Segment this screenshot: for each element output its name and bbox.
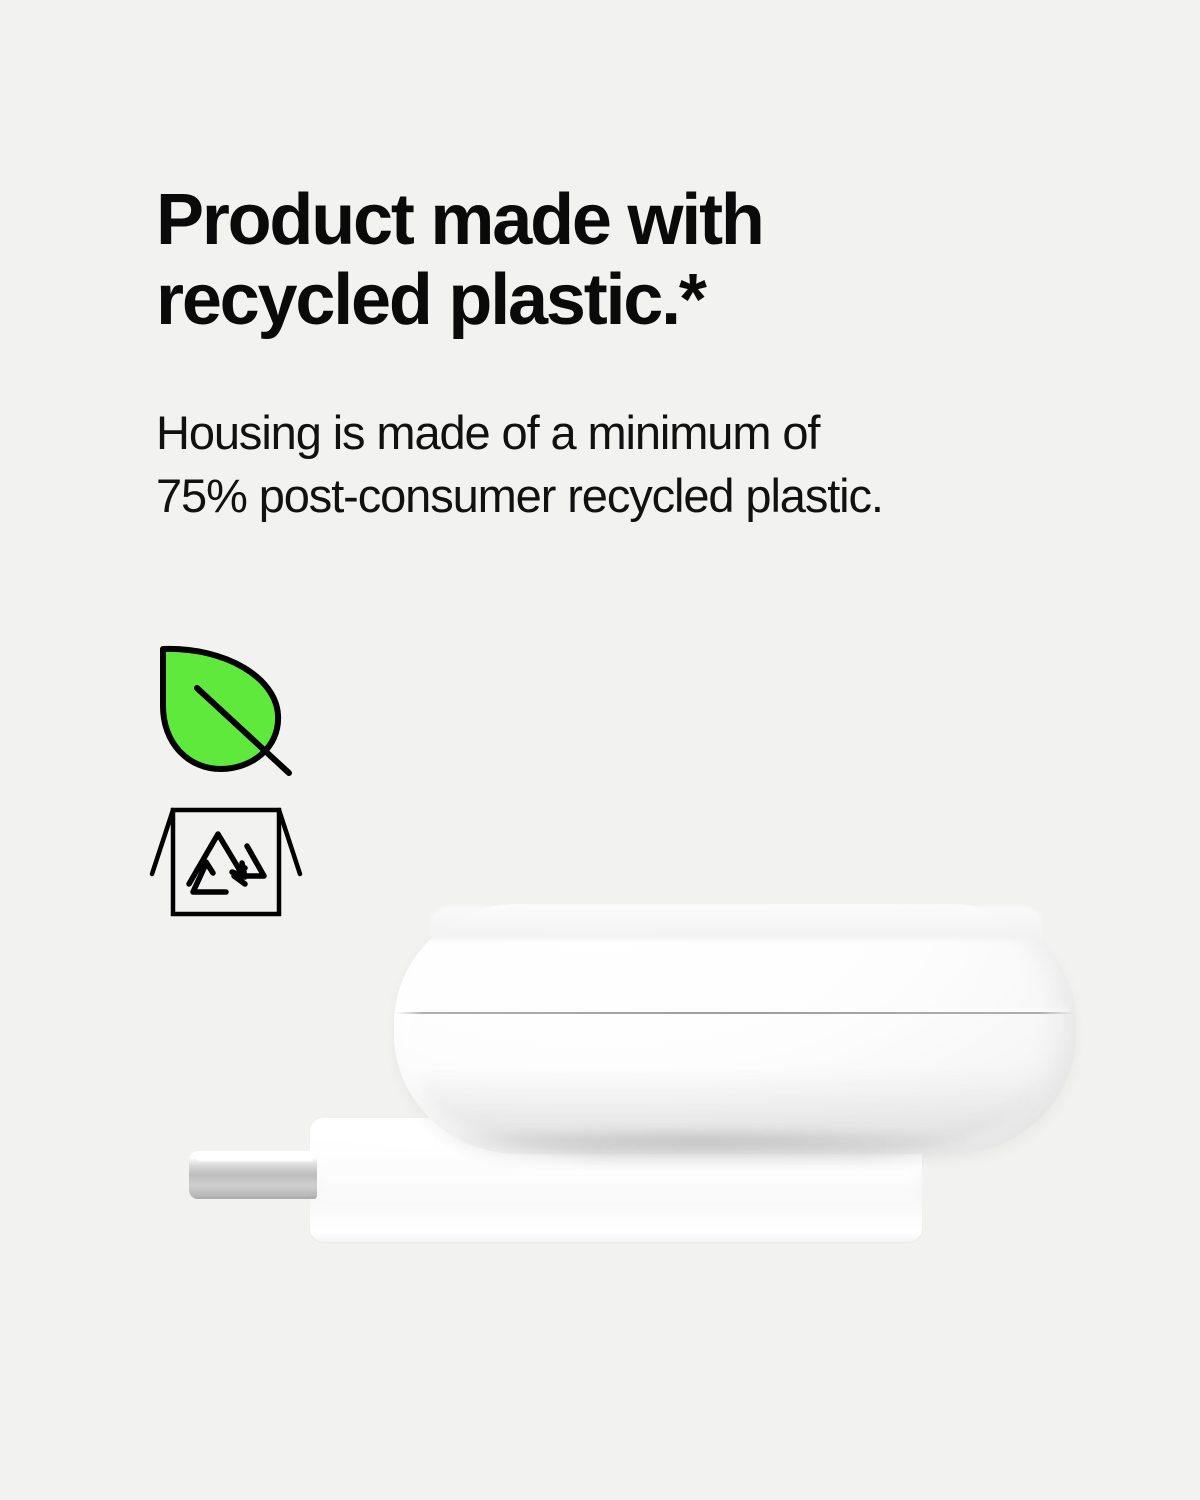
usb-c-adapter-body	[310, 1118, 922, 1242]
charging-case-lid	[430, 906, 1042, 940]
page-background: Product made with recycled plastic.* Hou…	[0, 0, 1200, 1500]
adapter-sheen	[318, 1168, 918, 1208]
usb-c-tip-highlight	[196, 1154, 314, 1161]
leaf-icon	[152, 636, 298, 782]
charging-case	[394, 904, 1076, 1154]
description-text: Housing is made of a minimum of 75% post…	[156, 401, 1116, 527]
charging-case-shadow	[430, 1128, 970, 1154]
charging-case-seam-highlight	[400, 1007, 1070, 1012]
recycle-box-icon	[146, 800, 306, 922]
charging-case-shading	[420, 1070, 1040, 1158]
page-title: Product made with recycled plastic.*	[156, 180, 1056, 340]
charging-case-seam	[396, 1012, 1074, 1014]
adapter-gloss-highlight	[330, 1124, 590, 1150]
usb-c-connector-tip	[189, 1151, 317, 1199]
